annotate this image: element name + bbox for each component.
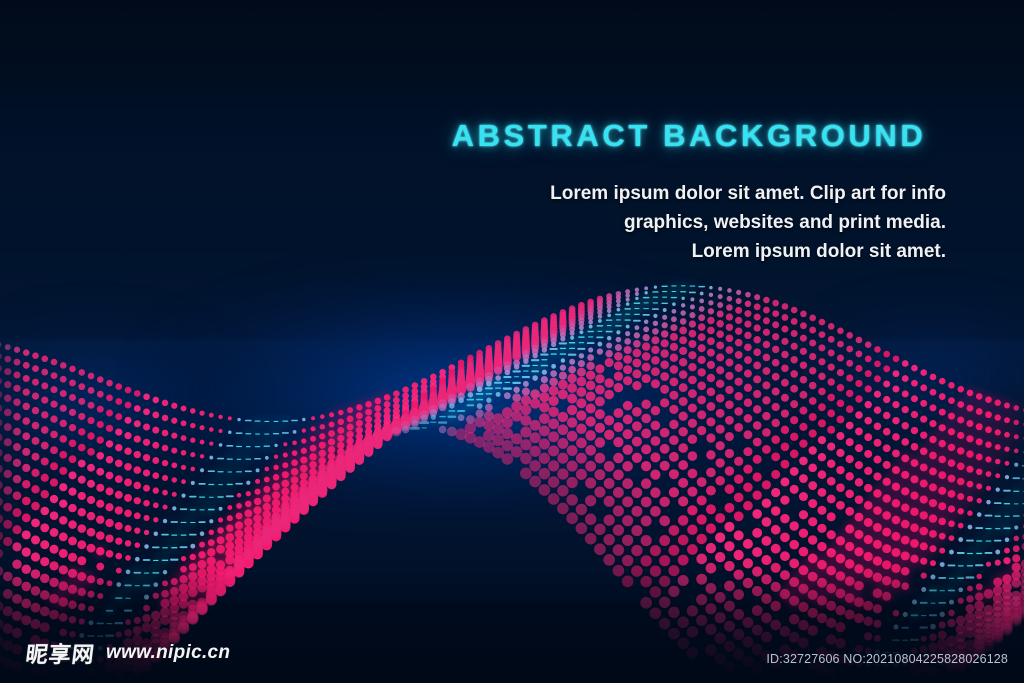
subtitle-line-2: graphics, websites and print media.: [432, 209, 946, 238]
watermark: 昵享网 www.nipic.cn: [26, 637, 230, 669]
page-title: ABSTRACT BACKGROUND: [432, 118, 952, 154]
particle-wave-dot-layer: [0, 285, 1024, 677]
image-id-label: ID:32727606 NO:20210804225828026128: [766, 652, 1008, 666]
watermark-logo: 昵享网: [24, 637, 97, 669]
headline-block: ABSTRACT BACKGROUND Lorem ipsum dolor si…: [432, 118, 952, 267]
subtitle-line-1: Lorem ipsum dolor sit amet. Clip art for…: [432, 180, 946, 209]
subtitle-line-3: Lorem ipsum dolor sit amet.: [432, 238, 946, 267]
abstract-background-poster: ABSTRACT BACKGROUND Lorem ipsum dolor si…: [0, 0, 1024, 683]
watermark-url: www.nipic.cn: [106, 642, 230, 664]
page-subtitle: Lorem ipsum dolor sit amet. Clip art for…: [432, 180, 952, 267]
particle-wave-graphic: [0, 0, 1024, 683]
